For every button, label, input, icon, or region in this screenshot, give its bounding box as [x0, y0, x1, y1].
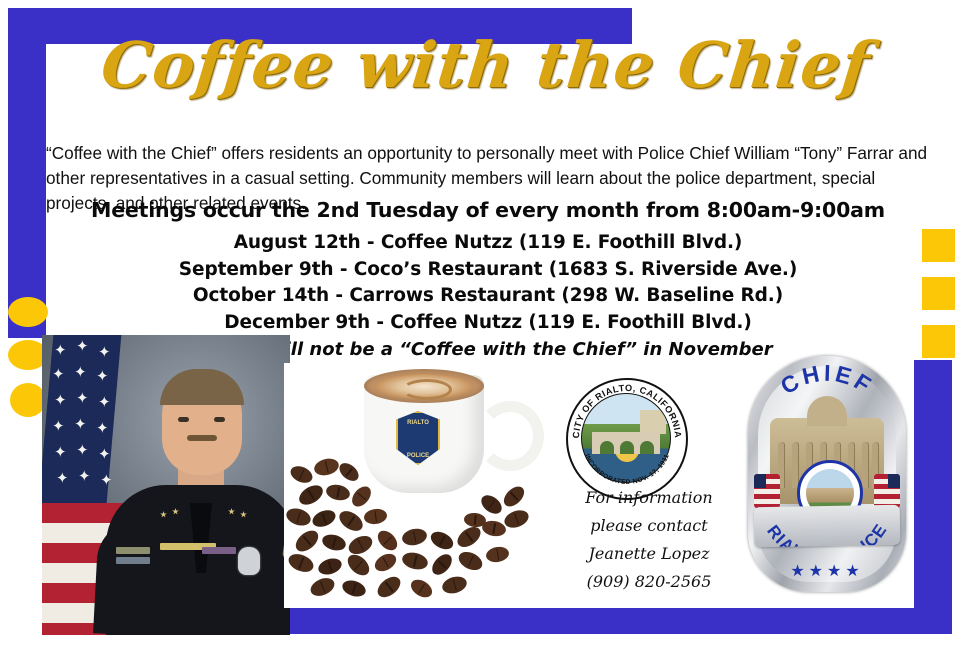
badge-chief-label: CHIEF: [776, 360, 879, 400]
seal-bottom-text: INCORPORATED NOV. 17, 1911: [583, 453, 671, 486]
page-title: Coffee with the Chief: [42, 30, 929, 100]
contact-name: Jeanette Lopez: [556, 540, 742, 568]
badge-ribbon: RIALTO POLICE: [754, 505, 901, 548]
contact-line-1: For information: [556, 484, 742, 512]
contact-info: For information please contact Jeanette …: [556, 484, 742, 596]
contact-phone: (909) 820-2565: [556, 568, 742, 596]
chief-portrait-photo: ✦ ✦ ✦ ✦ ✦ ✦ ✦ ✦ ✦ ✦ ✦ ✦ ✦ ✦ ✦ ✦ ✦ ✦: [42, 335, 290, 635]
latte-art-swirl: [402, 379, 452, 400]
city-of-rialto-seal: CITY OF RIALTO, CALIFORNIA INCORPORATED …: [566, 378, 688, 500]
badge-ribbon-label: RIALTO POLICE: [763, 520, 892, 548]
meetings-headline: Meetings occur the 2nd Tuesday of every …: [46, 198, 930, 222]
accent-circle-1: [8, 297, 48, 327]
portrait-eye-right: [214, 417, 225, 422]
list-item: December 9th - Coffee Nutzz (119 E. Foot…: [46, 310, 930, 337]
seal-text: CITY OF RIALTO, CALIFORNIA INCORPORATED …: [568, 380, 686, 498]
svg-text:RIALTO POLICE: RIALTO POLICE: [763, 520, 892, 548]
chief-badge: CHIEF RIALTO POLICE ★★★★: [748, 356, 906, 592]
list-item: September 9th - Coco’s Restaurant (1683 …: [46, 257, 930, 284]
service-ribbon: [116, 547, 150, 554]
svg-text:CHIEF: CHIEF: [776, 360, 879, 400]
mug-handle: [476, 401, 544, 471]
svg-text:INCORPORATED NOV. 17, 1911: INCORPORATED NOV. 17, 1911: [583, 453, 671, 486]
frame-bar-right: [914, 360, 952, 612]
svg-text:CITY OF RIALTO, CALIFORNIA: CITY OF RIALTO, CALIFORNIA: [571, 383, 683, 439]
list-item: October 14th - Carrows Restaurant (298 W…: [46, 283, 930, 310]
accent-circle-3: [10, 383, 46, 417]
badge-rank-stars: ★★★★: [748, 564, 906, 580]
coffee-cup-photo: RIALTO POLICE: [284, 363, 546, 608]
portrait-moustache: [187, 435, 217, 441]
seal-outer-text: CITY OF RIALTO, CALIFORNIA: [571, 383, 683, 439]
frame-bar-left: [8, 8, 46, 338]
portrait-eye-left: [178, 417, 189, 422]
flyer-canvas: Coffee with the Chief “Coffee with the C…: [0, 0, 960, 646]
service-ribbon: [202, 547, 236, 554]
badge-top-text: CHIEF: [748, 356, 906, 456]
mug-patch-line1: RIALTO: [398, 420, 438, 426]
frame-bar-bottom: [208, 608, 952, 634]
badge-flag-right: [874, 474, 900, 508]
badge-flag-left: [754, 474, 780, 508]
uniform-badge: [238, 547, 260, 575]
list-item: August 12th - Coffee Nutzz (119 E. Footh…: [46, 230, 930, 257]
contact-line-2: please contact: [556, 512, 742, 540]
service-ribbon: [116, 557, 150, 564]
